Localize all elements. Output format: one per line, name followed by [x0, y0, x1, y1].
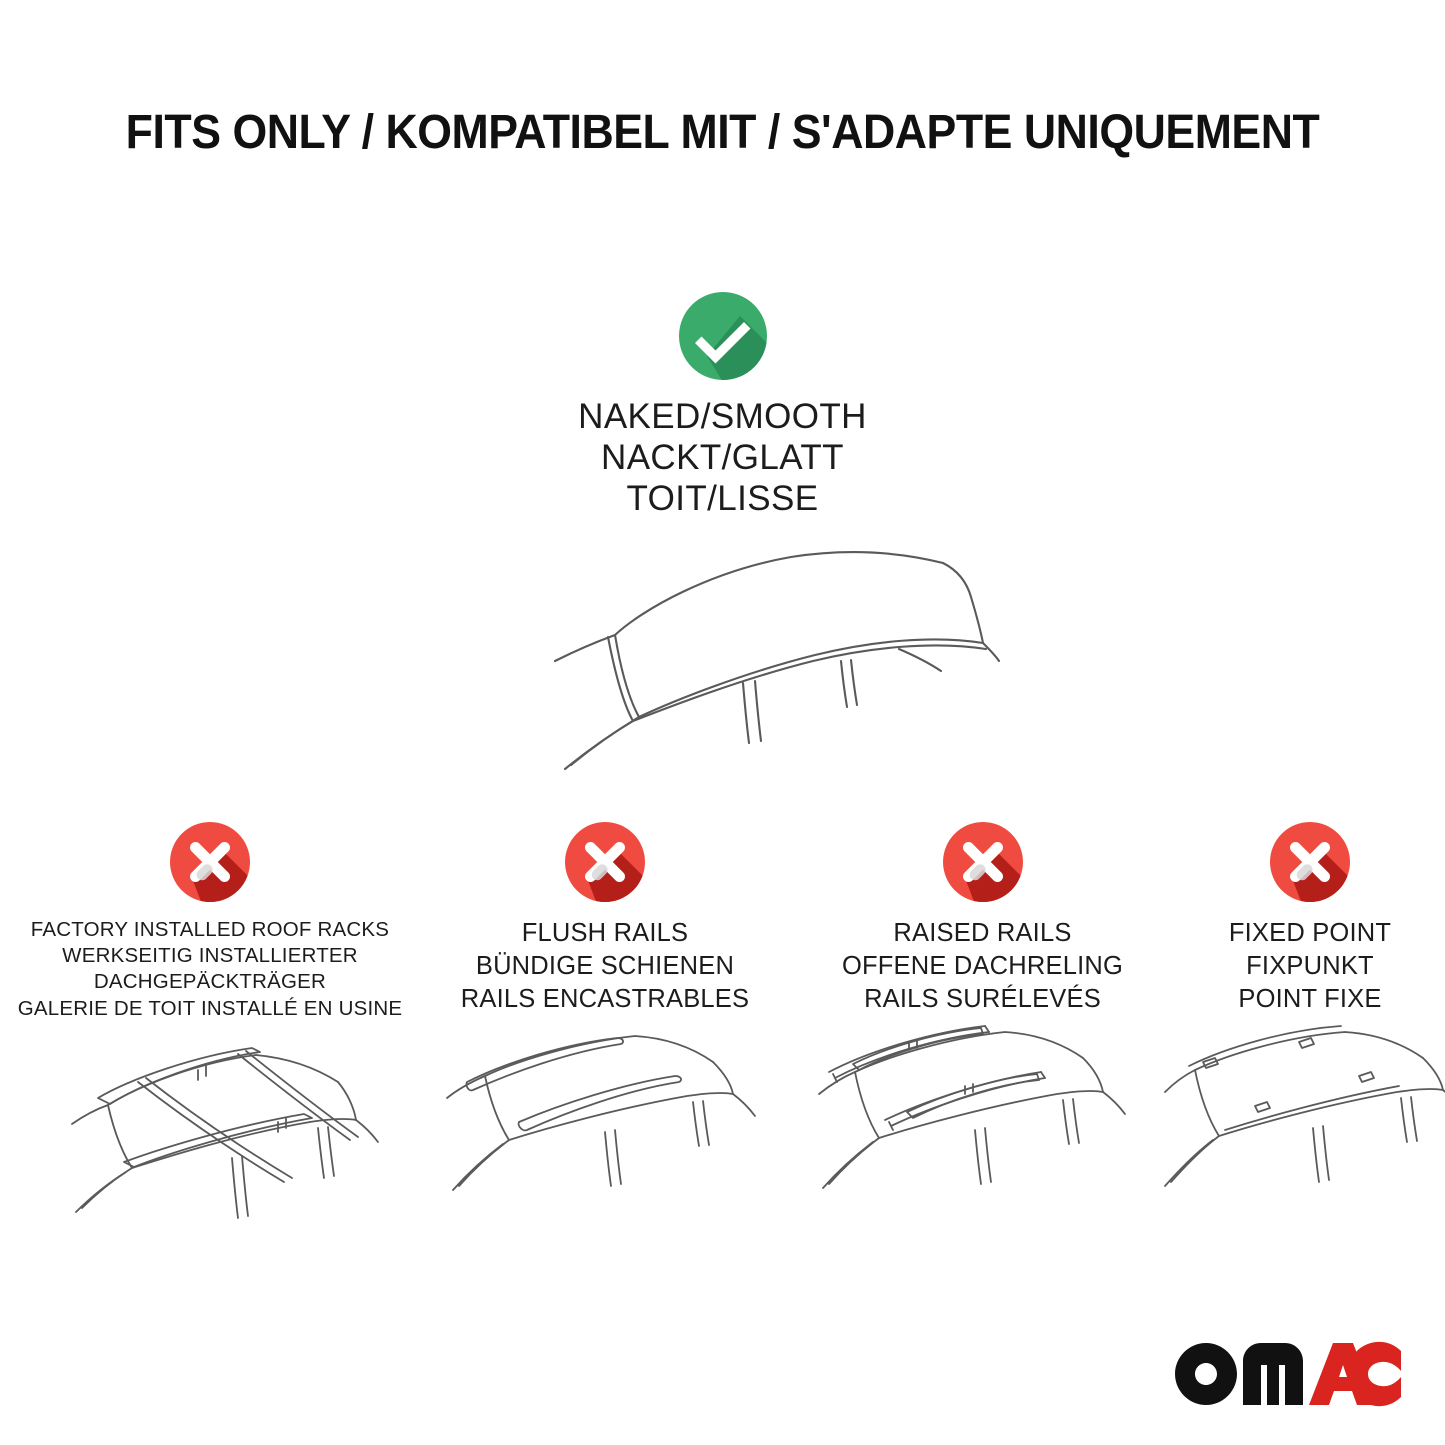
incompatible-label-fr: RAILS SURÉLEVÉS [842, 983, 1123, 1016]
incompatible-label-de-2: DACHGEPÄCKTRÄGER [18, 969, 402, 995]
incompatible-item-factory-roof-racks: FACTORY INSTALLED ROOF RACKS WERKSEITIG … [0, 820, 420, 1250]
incompatible-label-fr: RAILS ENCASTRABLES [461, 983, 749, 1016]
incompatible-section: FACTORY INSTALLED ROOF RACKS WERKSEITIG … [0, 820, 1445, 1250]
incompatible-label-de-1: WERKSEITIG INSTALLIERTER [18, 943, 402, 969]
incompatible-label-fr: GALERIE DE TOIT INSTALLÉ EN USINE [18, 996, 402, 1022]
omac-logo [1173, 1341, 1403, 1407]
x-circle-icon [1268, 820, 1352, 904]
incompatible-label-de: BÜNDIGE SCHIENEN [461, 950, 749, 983]
page-title: FITS ONLY / KOMPATIBEL MIT / S'ADAPTE UN… [51, 104, 1395, 162]
incompatible-label-en: FIXED POINT [1229, 917, 1391, 950]
check-circle-icon [677, 290, 769, 382]
incompatible-labels: FACTORY INSTALLED ROOF RACKS WERKSEITIG … [18, 917, 402, 1022]
compatible-section: NAKED/SMOOTH NACKT/GLATT TOIT/LISSE [0, 290, 1445, 791]
compatible-label-fr: TOIT/LISSE [0, 478, 1445, 519]
compatible-label-de: NACKT/GLATT [0, 437, 1445, 478]
fixed-point-illustration [1155, 1024, 1445, 1244]
compatible-label-en: NAKED/SMOOTH [0, 396, 1445, 437]
incompatible-labels: FLUSH RAILS BÜNDIGE SCHIENEN RAILS ENCAS… [461, 917, 749, 1016]
incompatible-label-de: FIXPUNKT [1229, 950, 1391, 983]
incompatible-label-en: FLUSH RAILS [461, 917, 749, 950]
incompatible-labels: RAISED RAILS OFFENE DACHRELING RAILS SUR… [842, 917, 1123, 1016]
incompatible-labels: FIXED POINT FIXPUNKT POINT FIXE [1229, 917, 1391, 1016]
incompatible-item-fixed-point: FIXED POINT FIXPUNKT POINT FIXE [1175, 820, 1445, 1250]
incompatible-label-en: FACTORY INSTALLED ROOF RACKS [18, 917, 402, 943]
raised-rails-illustration [793, 1024, 1173, 1244]
x-circle-icon [563, 820, 647, 904]
smooth-roof-illustration [0, 531, 1445, 791]
factory-roof-rack-illustration [20, 1030, 400, 1250]
incompatible-label-en: RAISED RAILS [842, 917, 1123, 950]
x-circle-icon [941, 820, 1025, 904]
flush-rails-illustration [415, 1024, 795, 1244]
incompatible-item-flush-rails: FLUSH RAILS BÜNDIGE SCHIENEN RAILS ENCAS… [420, 820, 790, 1250]
compatible-labels: NAKED/SMOOTH NACKT/GLATT TOIT/LISSE [0, 396, 1445, 519]
x-circle-icon [168, 820, 252, 904]
incompatible-item-raised-rails: RAISED RAILS OFFENE DACHRELING RAILS SUR… [790, 820, 1175, 1250]
incompatible-label-fr: POINT FIXE [1229, 983, 1391, 1016]
incompatible-label-de: OFFENE DACHRELING [842, 950, 1123, 983]
